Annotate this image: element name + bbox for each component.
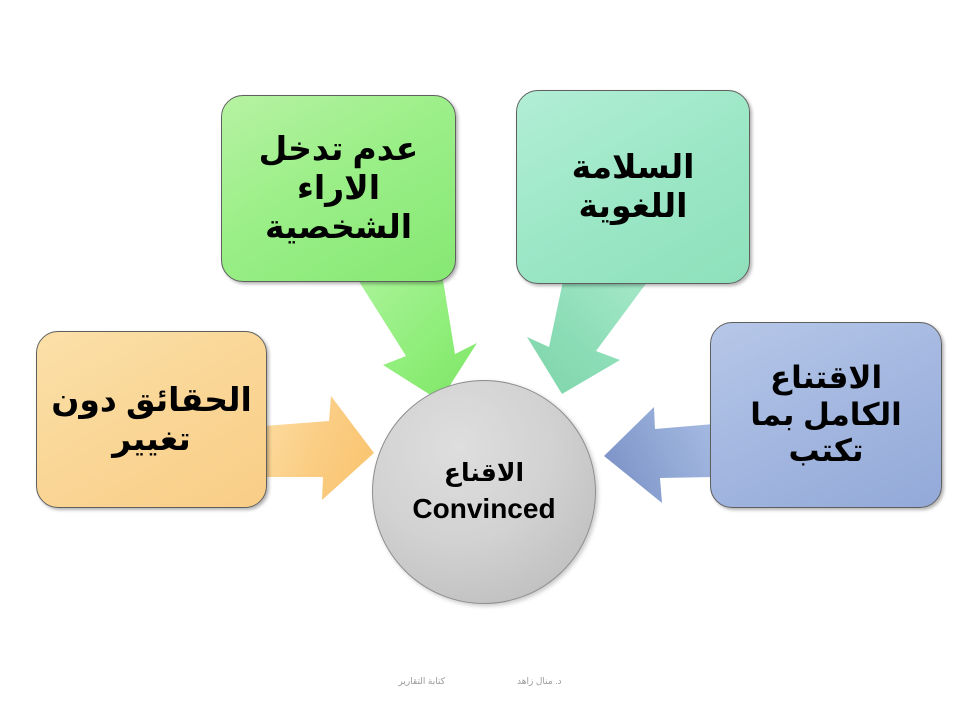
slide-canvas: عدم تدخل الاراء الشخصية السلامة اللغوية … <box>0 0 960 720</box>
node-opinions[interactable]: عدم تدخل الاراء الشخصية <box>221 95 456 282</box>
center-label-arabic: الاقناع <box>444 458 524 488</box>
footer-author: د. منال زاهد <box>517 676 562 687</box>
footer: د. منال زاهد كتابة التقارير <box>0 668 960 694</box>
footer-course-title: كتابة التقارير <box>398 676 445 687</box>
arrow-language-to-center <box>527 281 648 394</box>
node-language[interactable]: السلامة اللغوية <box>516 90 750 284</box>
arrow-facts-to-center <box>264 396 374 500</box>
node-center-convinced[interactable]: الاقناع Convinced <box>372 380 596 604</box>
node-conviction[interactable]: الاقتناع الكامل بما تكتب <box>710 322 942 508</box>
arrow-conviction-to-center <box>604 407 714 503</box>
node-conviction-label: الاقتناع الكامل بما تكتب <box>742 360 909 470</box>
node-language-label: السلامة اللغوية <box>564 148 703 226</box>
node-facts[interactable]: الحقائق دون تغيير <box>36 331 267 508</box>
node-opinions-label: عدم تدخل الاراء الشخصية <box>251 130 427 247</box>
node-facts-label: الحقائق دون تغيير <box>43 381 260 459</box>
center-label-english: Convinced <box>412 492 555 526</box>
